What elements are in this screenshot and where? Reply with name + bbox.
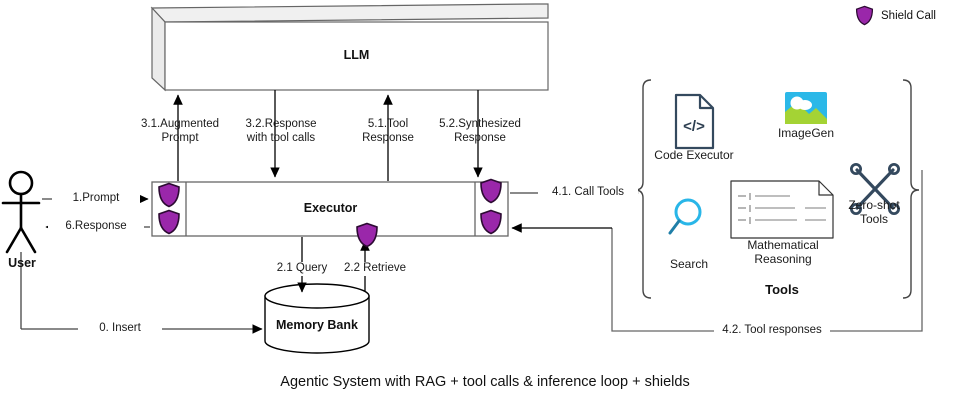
flow-label-response-with-tool-calls: 3.2.Response with tool calls: [232, 118, 330, 145]
executor-label: Executor: [186, 201, 475, 215]
flow-label-query: 2.1 Query: [267, 262, 337, 276]
insert-flow-line: [21, 252, 262, 329]
shield-icon: [355, 222, 379, 248]
image-picture-icon: [785, 92, 827, 124]
tool-label-code-executor: Code Executor: [646, 148, 742, 162]
flow-label-tool-responses: 4.2. Tool responses: [714, 324, 830, 338]
memory-bank-label: Memory Bank: [265, 318, 369, 332]
tool-label-imagegen: ImageGen: [766, 126, 846, 140]
architecture-diagram: </>: [0, 0, 970, 411]
flow-label-synthesized-response: 5.2.Synthesized Response: [430, 118, 530, 145]
code-document-icon: </>: [676, 95, 713, 148]
shield-icon: [157, 182, 181, 208]
tools-group-label: Tools: [737, 282, 827, 297]
svg-text:</>: </>: [683, 118, 705, 135]
shield-icon: [157, 209, 181, 235]
shield-icon: [855, 5, 874, 26]
llm-label: LLM: [165, 48, 548, 62]
user-actor-icon: [3, 172, 39, 252]
llm-node: [152, 4, 548, 90]
tool-label-search: Search: [658, 257, 720, 271]
flow-label-call-tools: 4.1. Call Tools: [538, 186, 638, 200]
legend-label: Shield Call: [881, 10, 936, 22]
shield-icon: [479, 209, 503, 235]
flow-label-tool-response: 5.1.Tool Response: [345, 118, 431, 145]
flow-label-retrieve: 2.2 Retrieve: [334, 262, 416, 276]
diagram-caption: Agentic System with RAG + tool calls & i…: [0, 374, 970, 390]
magnifier-icon: [670, 200, 700, 233]
tool-label-zero-shot-tools: Zero-shot Tools: [838, 198, 910, 226]
flow-label-response: 6.Response: [48, 220, 144, 234]
shield-icon: [479, 178, 503, 204]
user-label: User: [0, 256, 44, 270]
flow-label-augmented-prompt: 3.1.Augmented Prompt: [134, 118, 226, 145]
flow-label-prompt: 1.Prompt: [52, 192, 140, 206]
formula-document-icon: [731, 181, 833, 238]
tool-label-mathematical-reasoning: Mathematical Reasoning: [734, 238, 832, 266]
legend-shield-call: Shield Call: [855, 5, 936, 26]
flow-label-insert: 0. Insert: [78, 322, 162, 336]
